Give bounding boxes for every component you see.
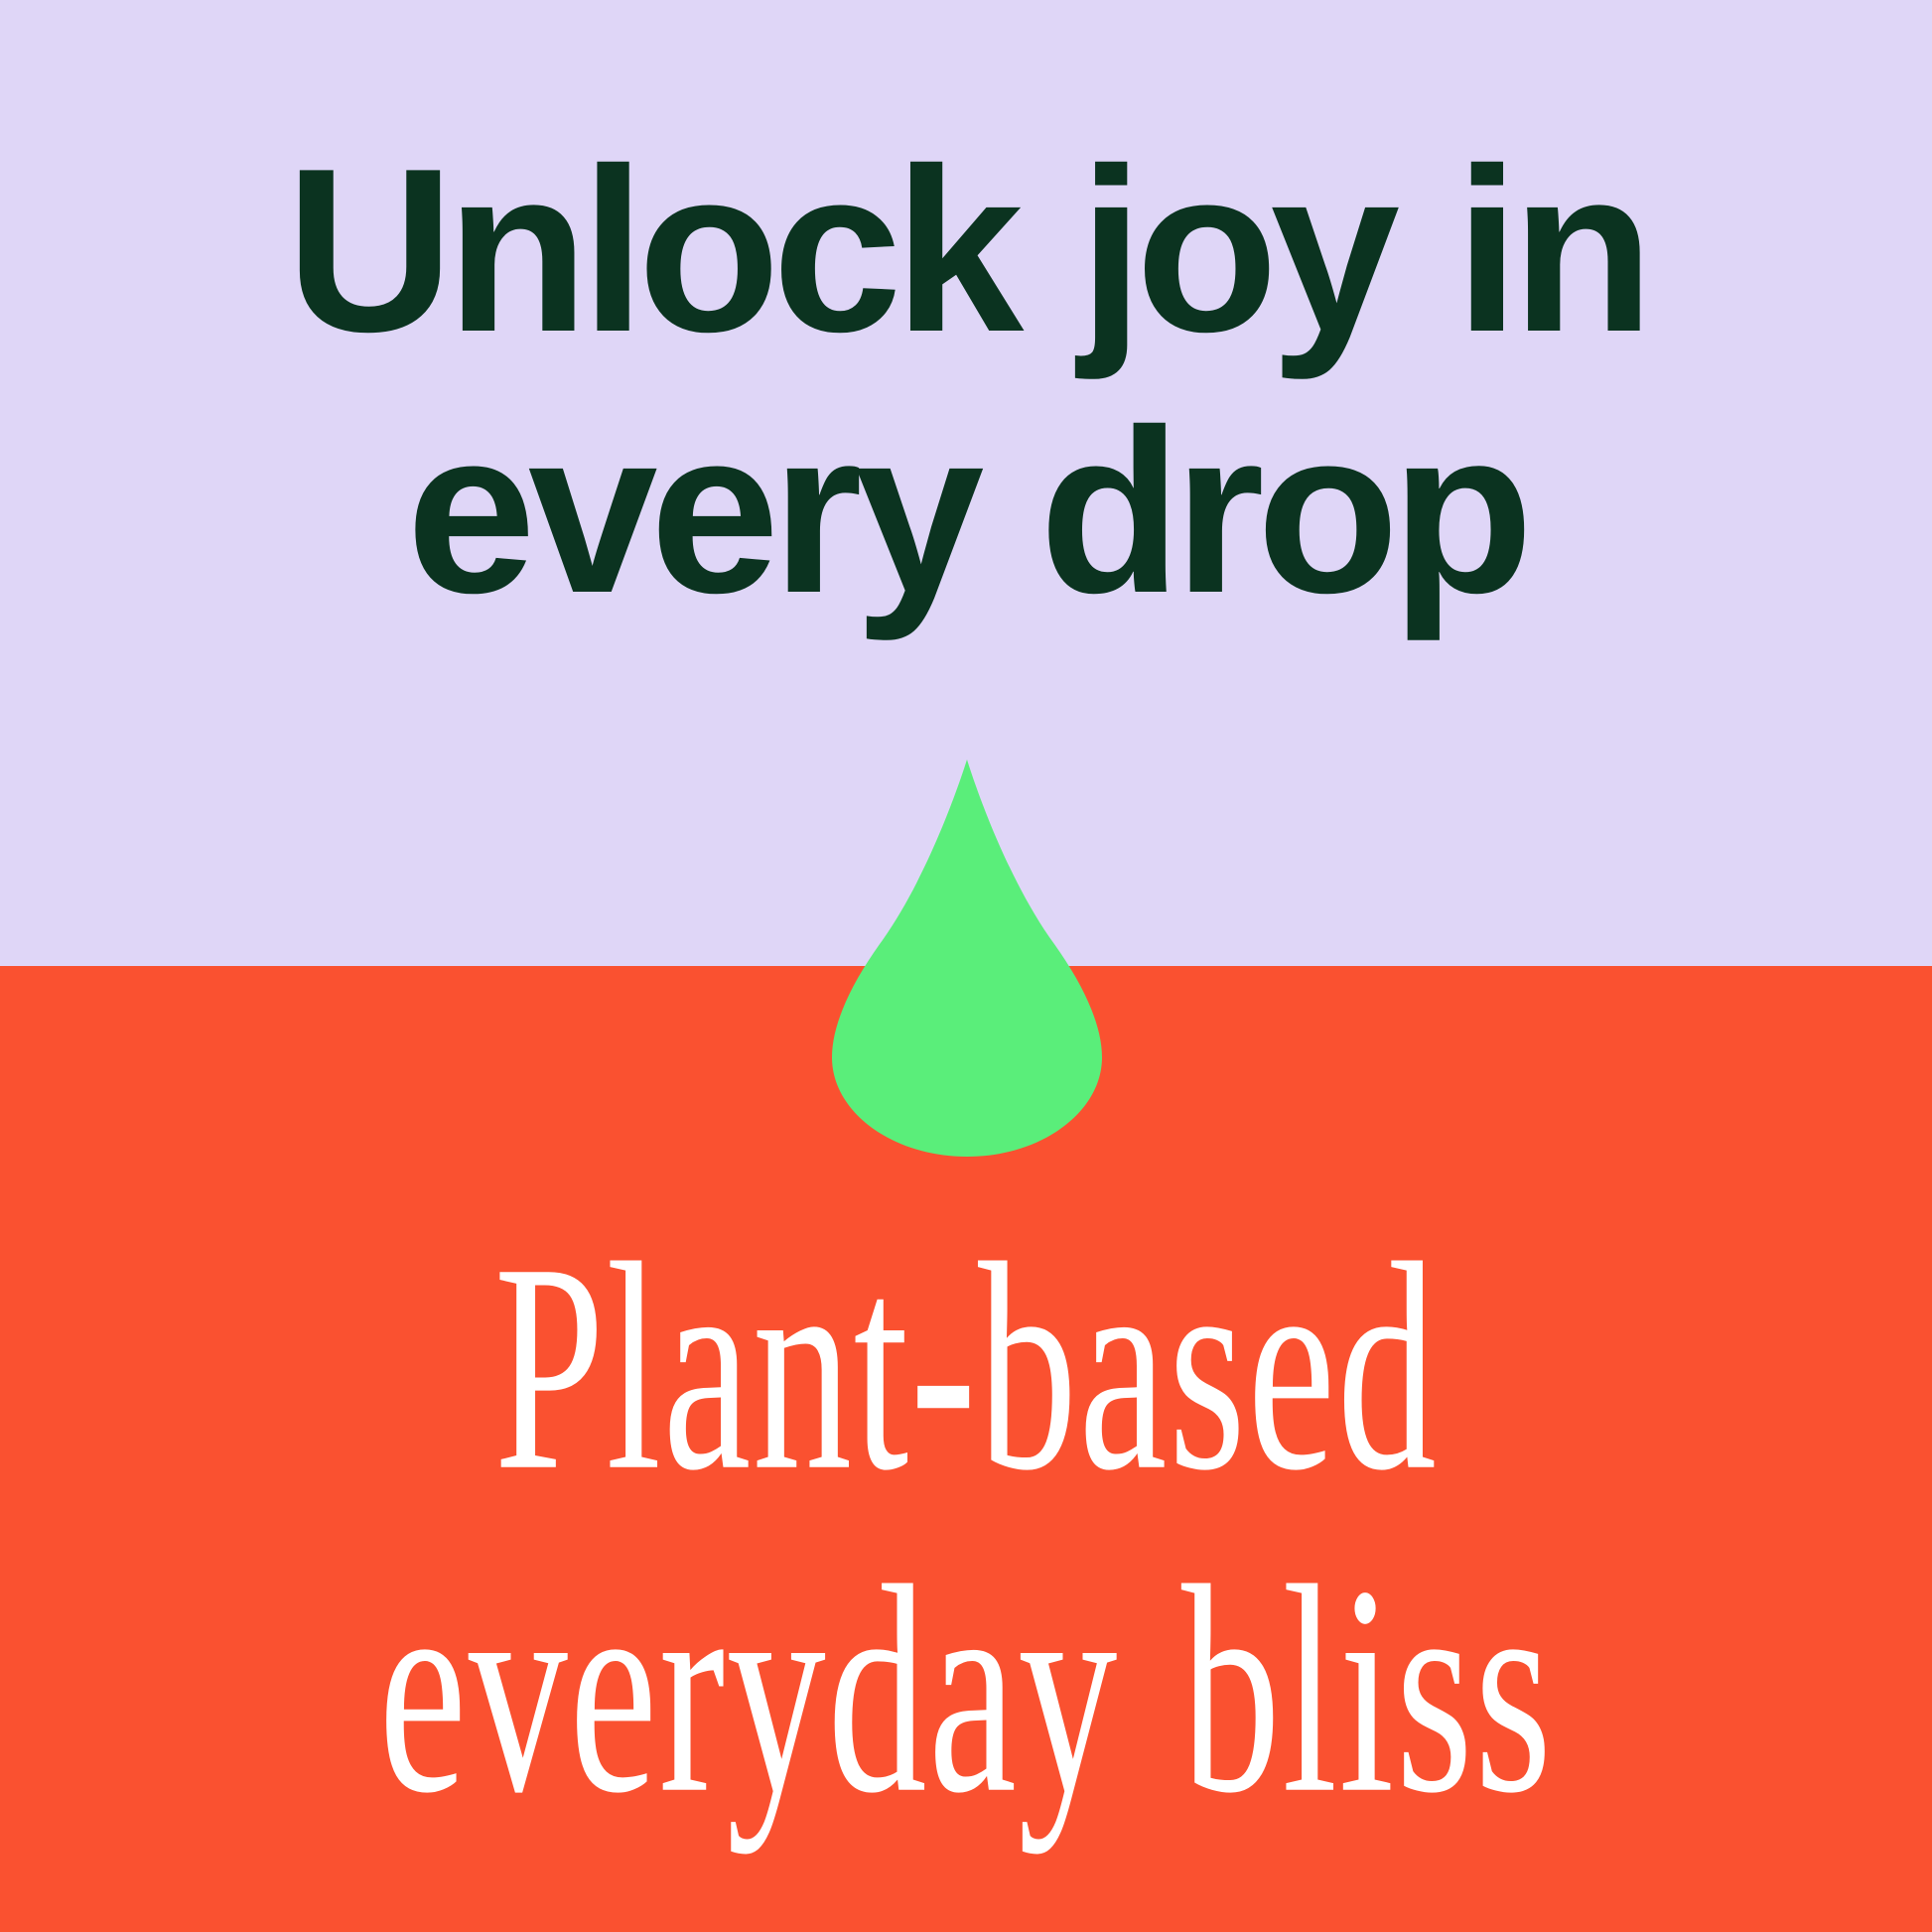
subhead-line-2: everyday bliss	[194, 1497, 1739, 1884]
poster-canvas: Unlock joy in every drop Plant-based eve…	[0, 0, 1932, 1932]
subhead: Plant-based everyday bliss	[0, 1206, 1932, 1852]
headline: Unlock joy in every drop	[0, 119, 1932, 641]
headline-line-2: every drop	[0, 380, 1932, 641]
headline-line-1: Unlock joy in	[0, 119, 1932, 380]
